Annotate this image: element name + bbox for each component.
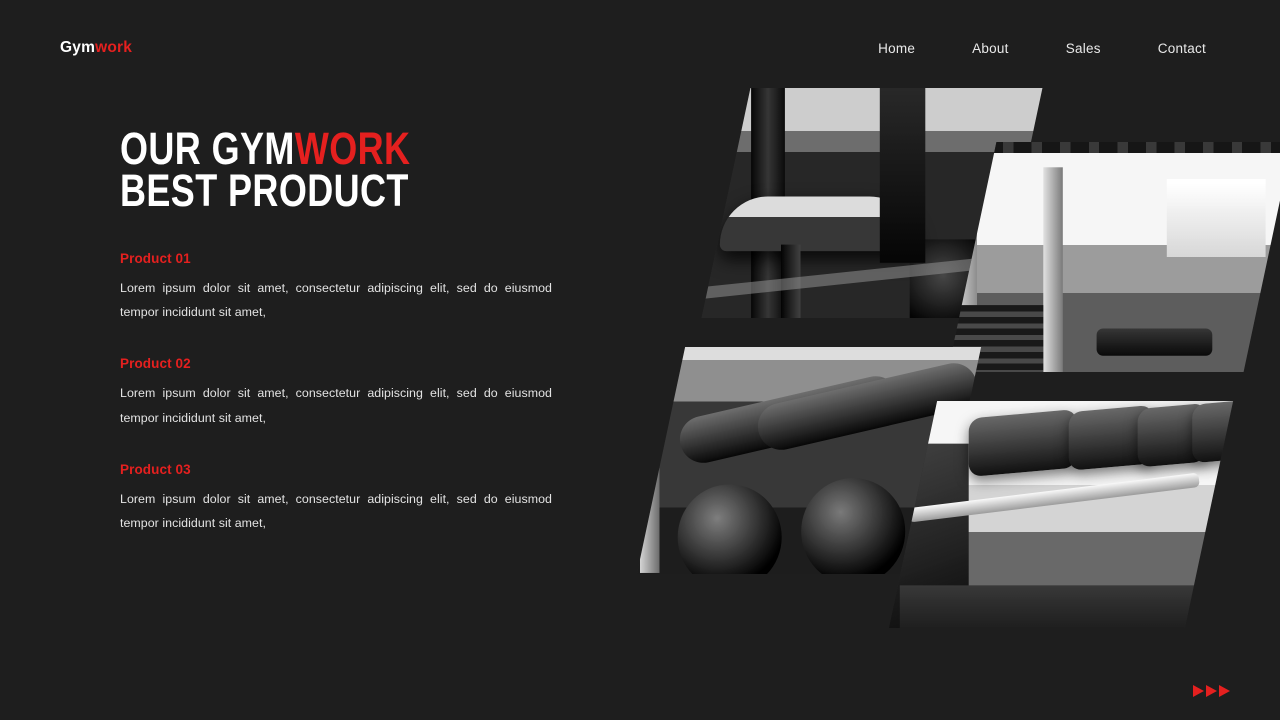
- product-list: Product 01 Lorem ipsum dolor sit amet, c…: [120, 251, 560, 536]
- kettlebell-bell-back: [801, 478, 905, 574]
- product-description: Lorem ipsum dolor sit amet, consectetur …: [120, 381, 552, 430]
- brand-logo-primary: Gym: [60, 39, 95, 56]
- treadmill-console-1: [969, 409, 1077, 477]
- kettlebell-bell-front: [678, 484, 782, 574]
- gallery-photo-treadmills: [889, 401, 1233, 628]
- product-title: Product 02: [120, 356, 560, 371]
- slide-root: Gymwork Home About Sales Contact OUR GYM…: [0, 0, 1280, 720]
- chevron-right-icon[interactable]: [1206, 685, 1217, 697]
- gallery-photo-gym-floor-image: [948, 142, 1280, 372]
- chevron-right-icon[interactable]: [1219, 685, 1230, 697]
- product-item-02: Product 02 Lorem ipsum dolor sit amet, c…: [120, 356, 560, 430]
- page-title: OUR GYMWORK BEST PRODUCT: [120, 128, 472, 213]
- treadmill-console-4: [1192, 401, 1233, 464]
- main-navigation: Home About Sales Contact: [868, 37, 1216, 60]
- product-description: Lorem ipsum dolor sit amet, consectetur …: [120, 487, 552, 536]
- flat-bench: [1097, 329, 1212, 356]
- wall-sign: [1166, 179, 1266, 257]
- brand-logo-accent: work: [95, 39, 132, 56]
- nav-item-contact[interactable]: Contact: [1148, 37, 1216, 60]
- gallery-photo-gym-floor: [948, 142, 1280, 372]
- treadmill-deck: [899, 585, 1233, 628]
- headline-line-2: BEST PRODUCT: [120, 170, 472, 212]
- rack-post: [640, 347, 659, 573]
- site-header: Gymwork Home About Sales Contact: [0, 0, 1280, 96]
- product-item-03: Product 03 Lorem ipsum dolor sit amet, c…: [120, 462, 560, 536]
- nav-item-about[interactable]: About: [962, 37, 1019, 60]
- product-item-01: Product 01 Lorem ipsum dolor sit amet, c…: [120, 251, 560, 325]
- bench-pad: [720, 197, 917, 251]
- product-title: Product 03: [120, 462, 560, 477]
- product-description: Lorem ipsum dolor sit amet, consectetur …: [120, 276, 552, 325]
- content-column: OUR GYMWORK BEST PRODUCT Product 01 Lore…: [120, 128, 560, 535]
- nav-item-home[interactable]: Home: [868, 37, 925, 60]
- gym-floor-scene: [948, 142, 1280, 372]
- next-slide-arrows[interactable]: [1193, 685, 1230, 697]
- nav-item-sales[interactable]: Sales: [1056, 37, 1111, 60]
- cable-frame-mid: [1043, 167, 1062, 372]
- gallery-photo-treadmills-image: [889, 401, 1233, 628]
- brand-logo[interactable]: Gymwork: [60, 40, 132, 56]
- chevron-right-icon[interactable]: [1193, 685, 1204, 697]
- headline-line-1: OUR GYMWORK: [120, 128, 472, 170]
- product-title: Product 01: [120, 251, 560, 266]
- treadmill-scene: [889, 401, 1233, 628]
